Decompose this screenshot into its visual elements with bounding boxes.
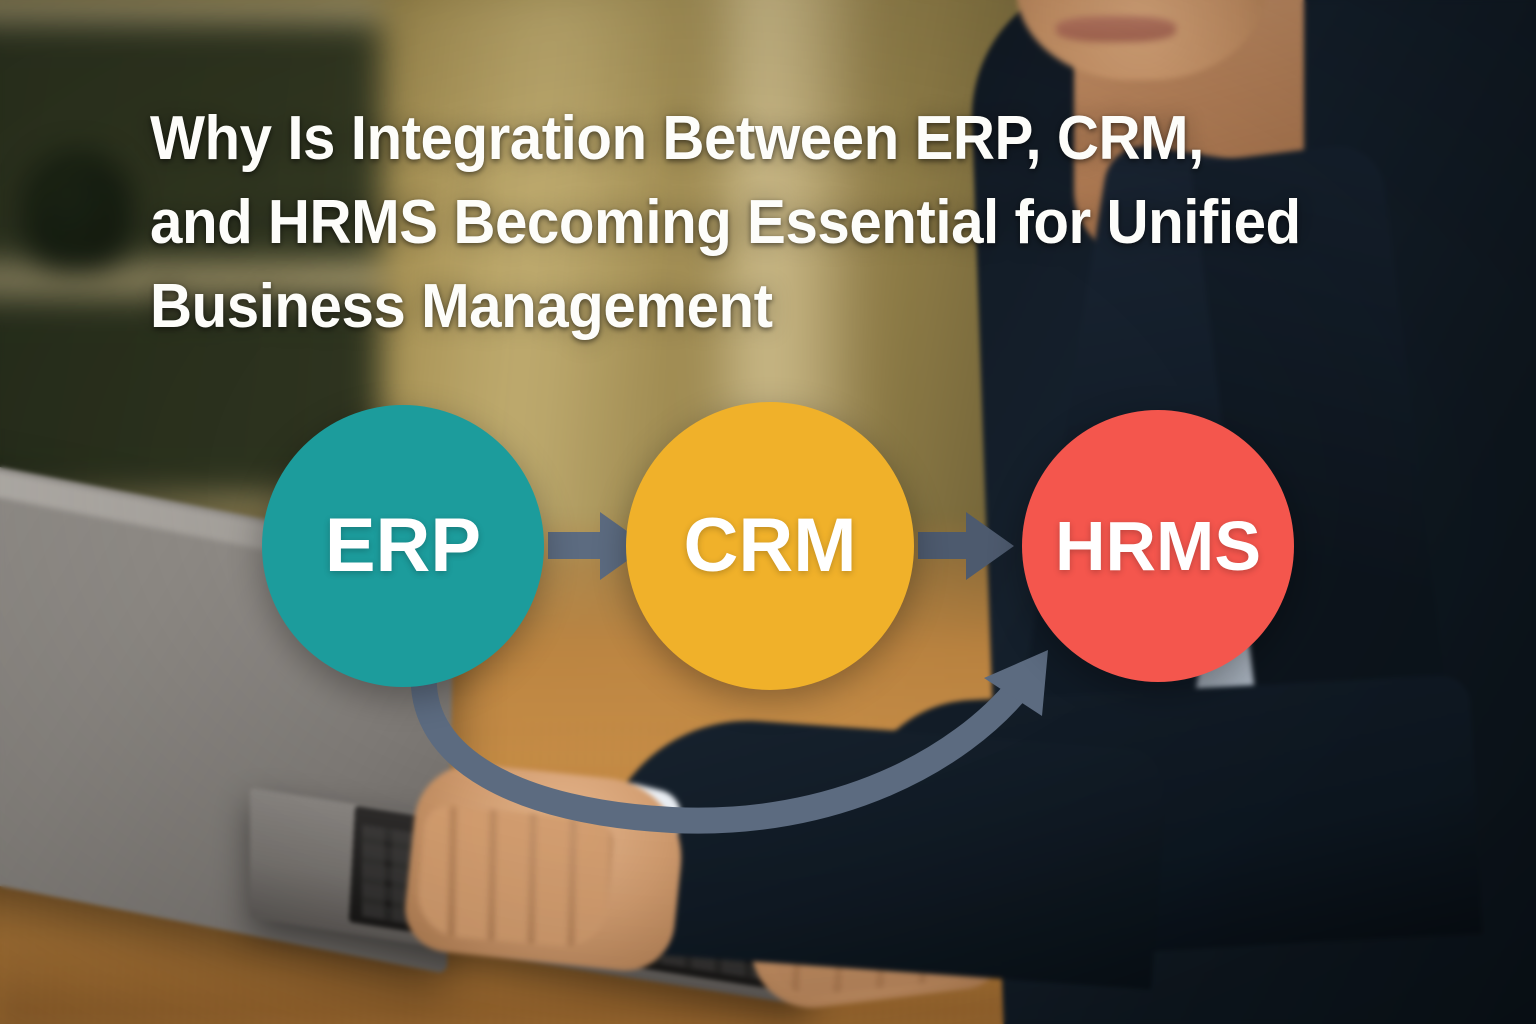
node-erp[interactable]: ERP: [262, 405, 544, 687]
node-hrms[interactable]: HRMS: [1022, 410, 1294, 682]
hero-graphic: Why Is Integration Between ERP, CRM, and…: [0, 0, 1536, 1024]
arrow-crm-to-hrms: [918, 512, 1014, 580]
node-hrms-label: HRMS: [1055, 511, 1261, 581]
node-crm-label: CRM: [683, 508, 856, 584]
node-crm[interactable]: CRM: [626, 402, 914, 690]
integration-flow-diagram: ERP CRM HRMS: [0, 0, 1536, 1024]
node-erp-label: ERP: [325, 508, 481, 584]
